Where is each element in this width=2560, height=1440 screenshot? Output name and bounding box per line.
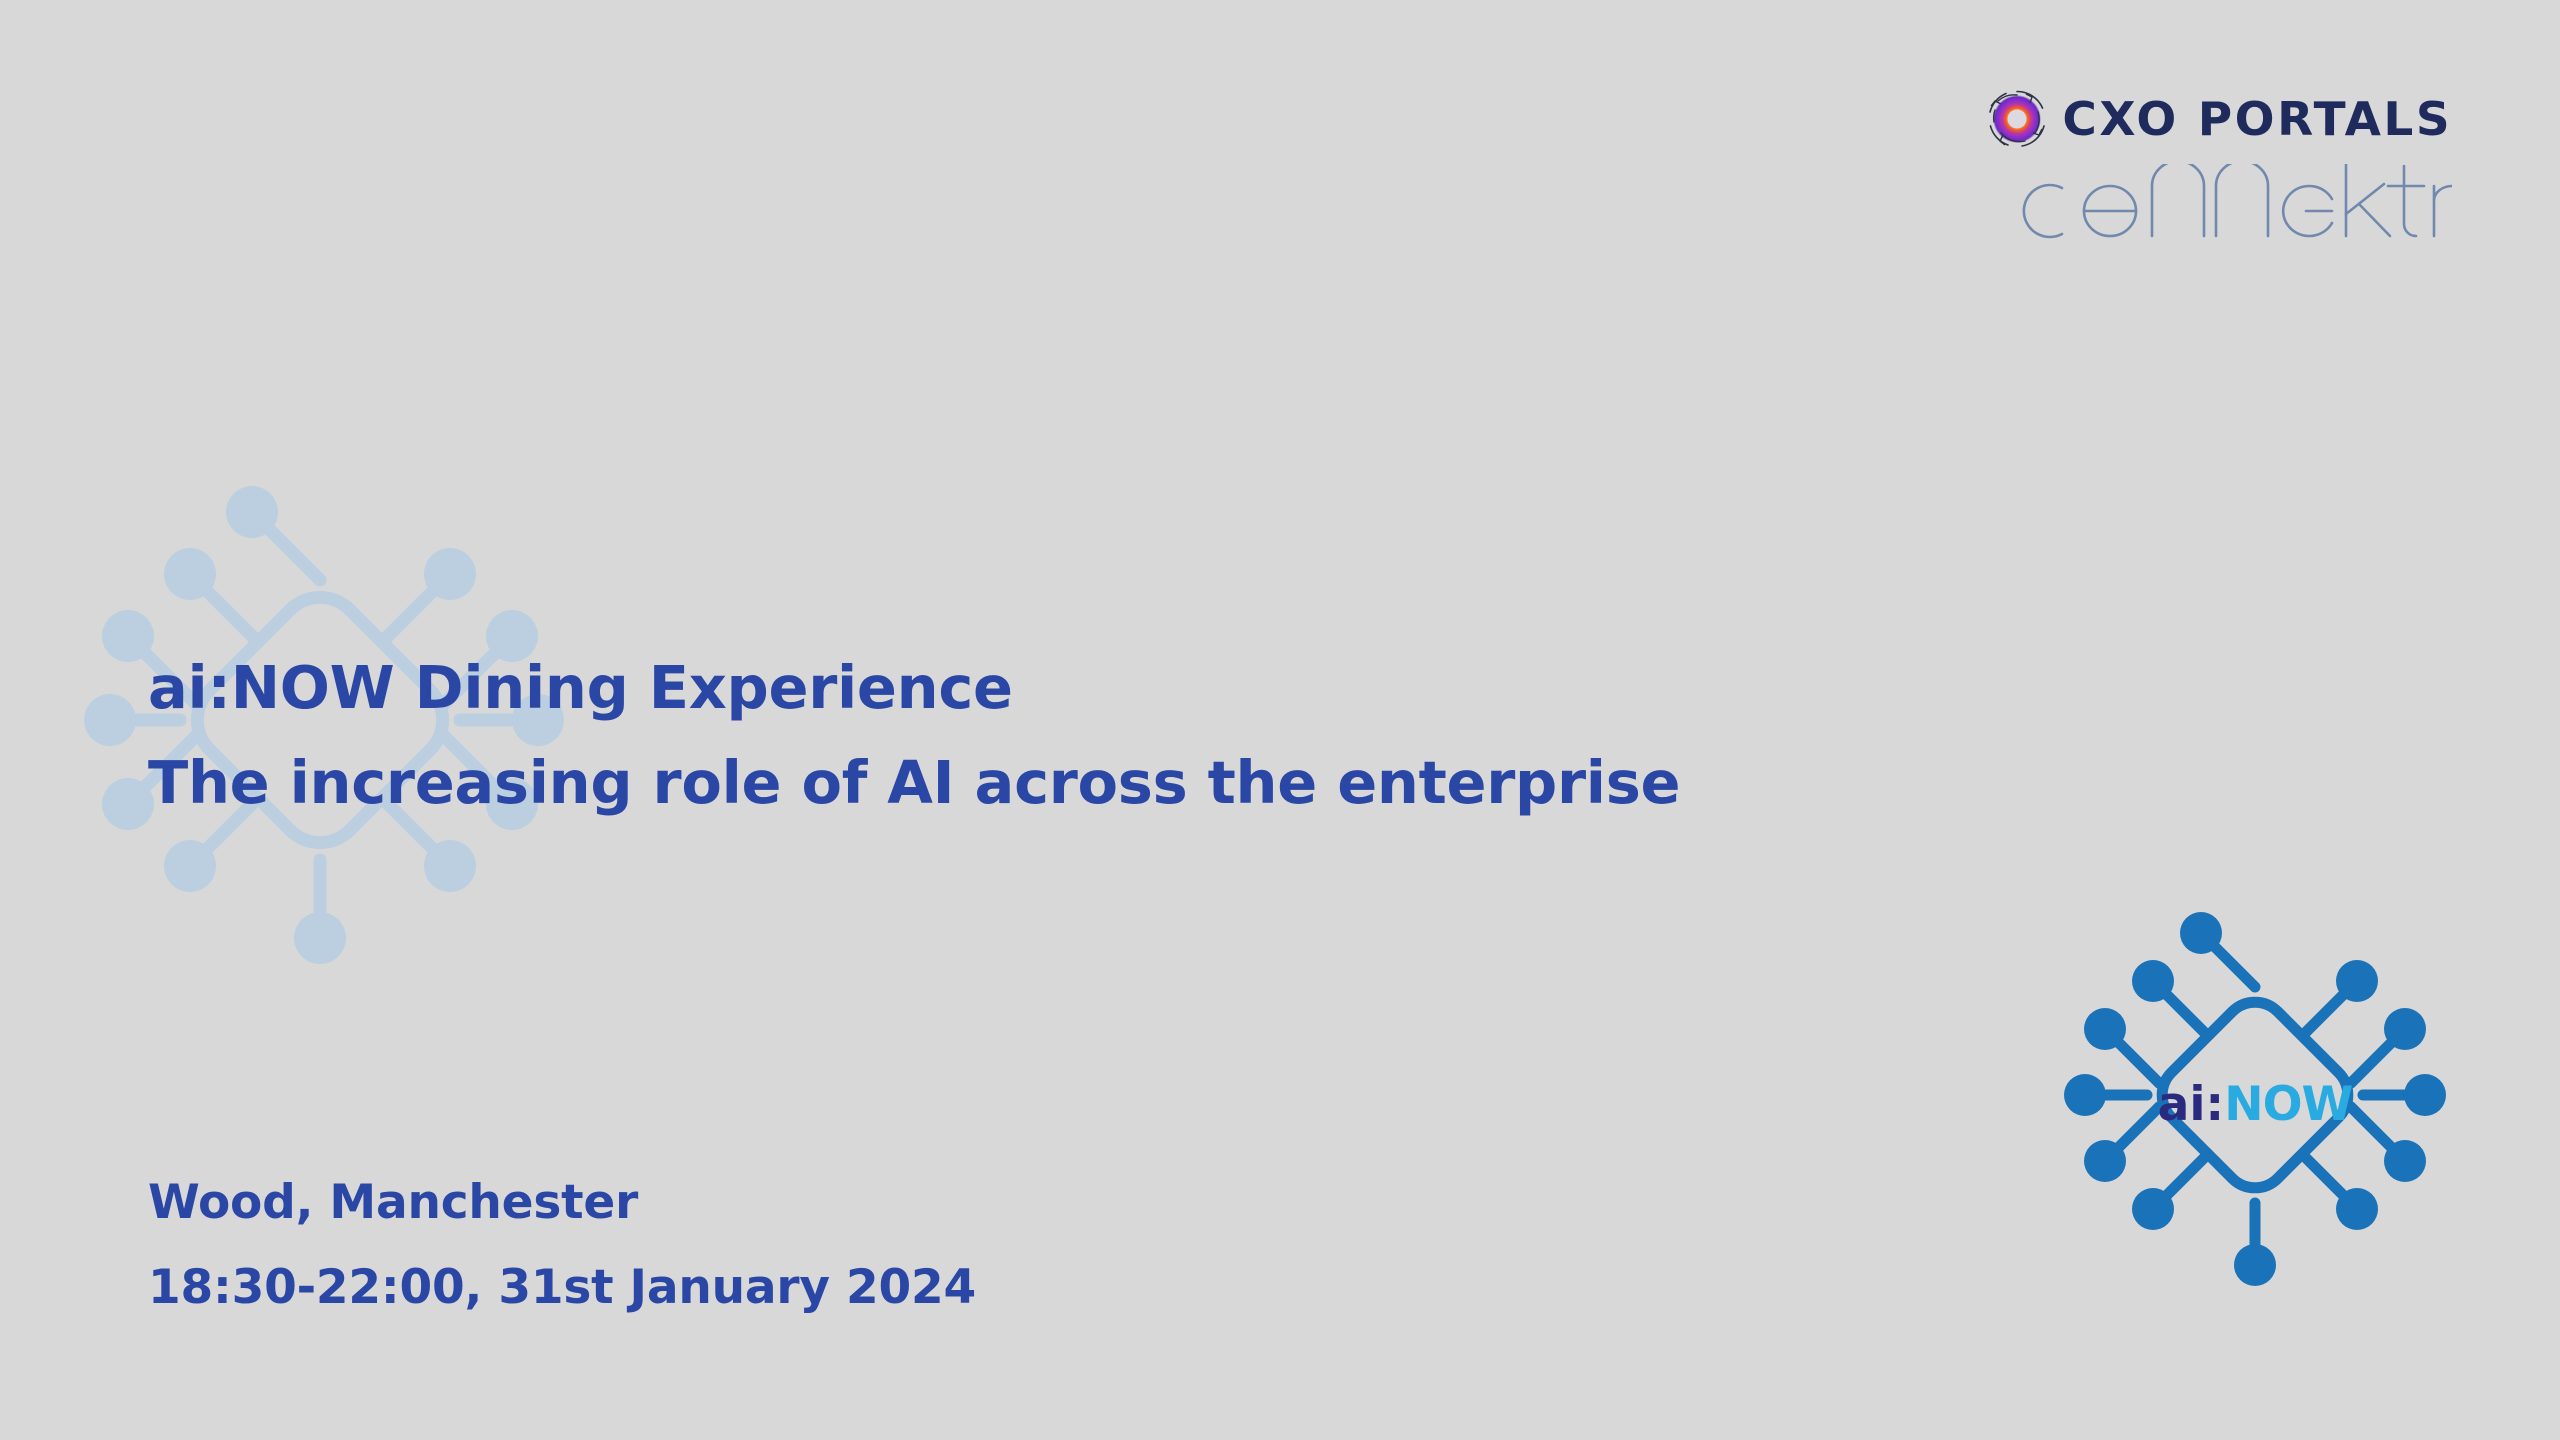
ainow-suffix: NOW [2224, 1077, 2352, 1132]
slide-canvas: CXO PORTALS [0, 0, 2560, 1440]
brand-name: CXO PORTALS [2062, 96, 2452, 142]
headline-line-2: The increasing role of AI across the ent… [148, 735, 1680, 830]
connektr-wordmark [1982, 164, 2452, 248]
event-details: Wood, Manchester 18:30-22:00, 31st Janua… [148, 1160, 976, 1330]
ainow-prefix: ai: [2158, 1077, 2225, 1132]
cxo-portals-brand-lockup[interactable]: CXO PORTALS [1982, 88, 2452, 248]
page-title: ai:NOW Dining Experience The increasing … [148, 640, 1680, 830]
brand-row: CXO PORTALS [1982, 88, 2452, 150]
event-datetime: 18:30-22:00, 31st January 2024 [148, 1245, 976, 1330]
event-location: Wood, Manchester [148, 1160, 976, 1245]
headline-line-1: ai:NOW Dining Experience [148, 640, 1680, 735]
ai-now-microchip-icon[interactable]: ai:NOW [2035, 875, 2475, 1315]
ai-now-wordmark: ai:NOW [2035, 1081, 2475, 1128]
cxo-portals-circular-gradient-icon [1986, 88, 2048, 150]
